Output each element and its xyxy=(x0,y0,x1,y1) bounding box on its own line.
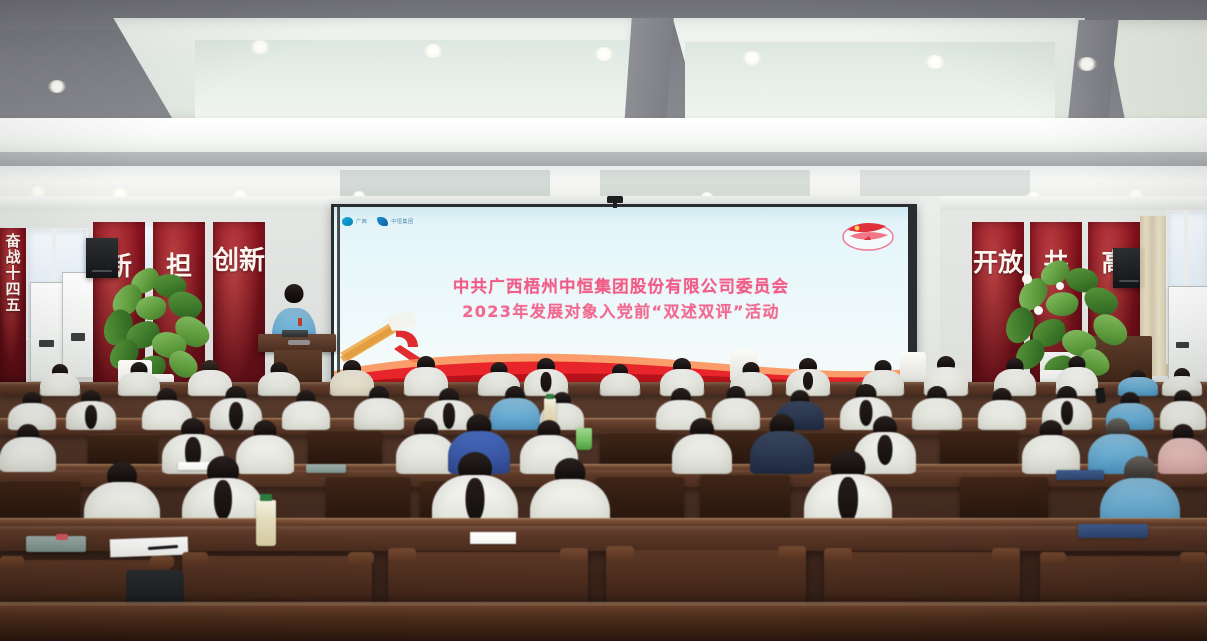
bench-arm xyxy=(606,546,634,559)
cornice-left xyxy=(0,196,340,210)
desk-edge-foreground xyxy=(0,604,1207,641)
bench-arm xyxy=(150,556,174,568)
speaker-badge xyxy=(298,318,302,326)
bench-arm xyxy=(992,548,1020,561)
ceiling-rib-left xyxy=(624,18,673,124)
audience-member xyxy=(672,418,732,474)
notebook-sticker xyxy=(56,534,68,540)
notebook-blue xyxy=(1078,524,1148,538)
zhongheng-logo: 中恒集团 xyxy=(377,217,413,226)
water-bottle-row-d xyxy=(256,500,276,546)
zhongheng-logo-text: 中恒集团 xyxy=(391,218,413,225)
downlight-icon xyxy=(48,80,66,93)
bench-arm xyxy=(1180,552,1207,564)
mobile-phone xyxy=(1095,387,1106,403)
downlight-icon xyxy=(742,51,762,65)
white-flowers-right xyxy=(1056,282,1064,290)
bench-arm xyxy=(182,552,208,564)
guangxi-logo: 广西 xyxy=(342,217,367,226)
slide-top-band xyxy=(334,207,908,220)
desk-row-d-top xyxy=(0,518,1207,526)
bench-arm xyxy=(0,556,24,568)
party-emblem xyxy=(842,218,894,252)
slide-title-line1: 中共广西梧州中恒集团股份有限公司委员会 xyxy=(334,275,908,300)
bench-arm xyxy=(560,548,588,561)
bench-front-center-2 xyxy=(606,550,806,610)
green-cup xyxy=(576,428,592,450)
stand-pole xyxy=(337,205,340,380)
audience-member xyxy=(66,390,116,430)
guangxi-logo-text: 广西 xyxy=(356,218,367,225)
desk-edge-highlight xyxy=(0,602,1207,606)
white-flowers-right xyxy=(1022,274,1032,284)
bench-arm xyxy=(388,548,416,561)
bench-arm xyxy=(348,552,374,564)
bench-arm xyxy=(824,548,852,561)
downlight-icon xyxy=(250,40,270,54)
podium-laptop xyxy=(282,330,308,337)
audience-member xyxy=(912,386,962,430)
cornice-right xyxy=(940,196,1207,210)
zhongheng-logo-mark xyxy=(377,217,388,226)
paper-sheet xyxy=(470,532,516,544)
conference-room-photo: 奋战十四五 新 担 创新 广西 xyxy=(0,0,1207,641)
slide-logo-row: 广西 中恒集团 xyxy=(342,217,414,226)
audience-member xyxy=(0,424,56,472)
audience-member xyxy=(600,364,640,396)
guangxi-logo-mark xyxy=(342,217,353,226)
speaker-head xyxy=(285,284,304,303)
notebook-grey xyxy=(306,464,346,473)
banner-fenzhan-text: 奋战十四五 xyxy=(0,234,26,313)
bench-arm xyxy=(778,546,806,559)
podium-screen-glow xyxy=(288,340,310,345)
downlight-icon xyxy=(594,47,614,61)
notebook-blue xyxy=(1056,470,1104,480)
banner-fenzhan: 奋战十四五 xyxy=(0,228,26,382)
audience-member xyxy=(1022,420,1080,474)
ceiling-coffer-center-inner xyxy=(685,42,1055,120)
downlight-icon xyxy=(1077,57,1097,71)
audience-member xyxy=(978,388,1026,430)
bench-arm xyxy=(1040,552,1066,564)
downlight-icon xyxy=(423,44,443,58)
white-flowers-right xyxy=(1034,306,1043,315)
downlight-icon xyxy=(925,55,945,69)
ceiling-camera-icon xyxy=(604,196,626,208)
